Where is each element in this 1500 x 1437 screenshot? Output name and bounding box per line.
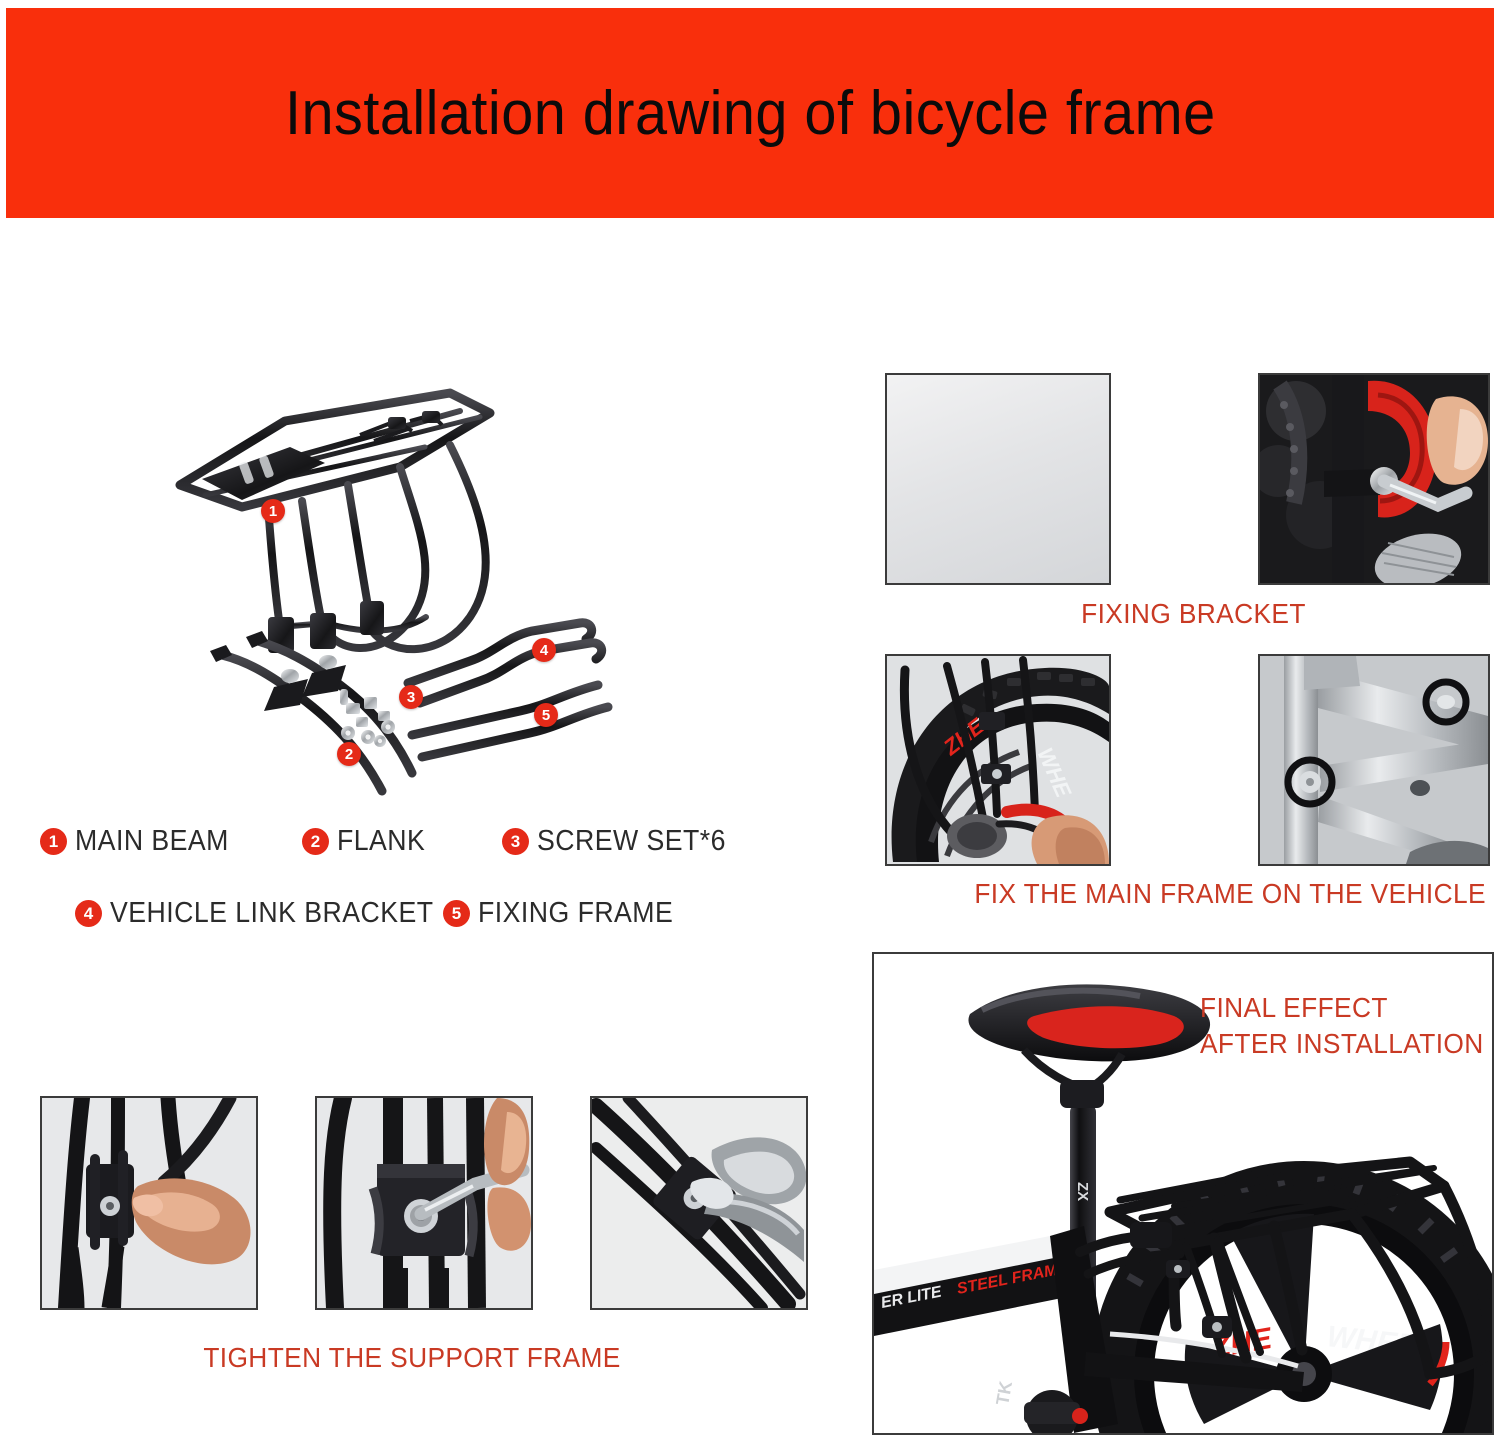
legend-item-fixing-frame: 5 FIXING FRAME	[443, 897, 690, 930]
svg-text:TK: TK	[992, 1380, 1016, 1407]
legend-number-5: 5	[443, 900, 470, 927]
legend-item-flank: 2 FLANK	[302, 825, 502, 858]
callout-5: 5	[534, 703, 558, 727]
exploded-view-illustration: 1 2 3 4 5	[150, 355, 630, 825]
legend-number-1: 1	[40, 828, 67, 855]
photo-tighten-support-2	[315, 1096, 533, 1310]
installed-rack-on-bike-art: ZHE WHEEL ZX ER LITE STEEL FRAME TK	[874, 954, 1492, 1433]
legend-item-vehicle-link-bracket: 4 VEHICLE LINK BRACKET	[75, 897, 443, 930]
photo-fix-main-frame-2	[1258, 654, 1490, 866]
callout-3: 3	[399, 685, 423, 709]
caption-fix-main-frame: FIX THE MAIN FRAME ON THE VEHICLE	[974, 878, 1486, 910]
photo-background	[887, 375, 1109, 583]
caption-tighten-support-frame: TIGHTEN THE SUPPORT FRAME	[203, 1342, 620, 1374]
callout-2: 2	[337, 742, 361, 766]
page-title: Installation drawing of bicycle frame	[285, 78, 1216, 149]
caption-final-effect-line2: AFTER INSTALLATION	[1200, 1028, 1484, 1060]
legend-row-1: 1 MAIN BEAM 2 FLANK 3 SCREW SET*6	[40, 818, 800, 864]
photo-fixing-bracket-2	[1258, 373, 1490, 585]
bolt-near-crank-art	[1260, 375, 1488, 583]
frame-mount-points-art	[1260, 656, 1488, 864]
parts-legend: 1 MAIN BEAM 2 FLANK 3 SCREW SET*6 4 VEHI…	[40, 818, 800, 936]
callout-1: 1	[261, 499, 285, 523]
legend-label-4: VEHICLE LINK BRACKET	[110, 897, 434, 930]
title-banner: Installation drawing of bicycle frame	[6, 8, 1494, 218]
callout-4: 4	[532, 638, 556, 662]
legend-number-2: 2	[302, 828, 329, 855]
legend-label-5: FIXING FRAME	[478, 897, 673, 930]
legend-row-2: 4 VEHICLE LINK BRACKET 5 FIXING FRAME	[75, 890, 800, 936]
legend-number-4: 4	[75, 900, 102, 927]
photo-final-effect: ZHE WHEEL ZX ER LITE STEEL FRAME TK	[872, 952, 1494, 1435]
caption-fixing-bracket: FIXING BRACKET	[1081, 598, 1306, 630]
fingers-aligning-bolt-art	[42, 1098, 256, 1308]
pliers-on-clamp-art	[592, 1098, 806, 1308]
legend-item-main-beam: 1 MAIN BEAM	[40, 825, 302, 858]
rack-parts-svg	[150, 355, 630, 825]
caption-final-effect-line1: FINAL EFFECT	[1200, 992, 1388, 1024]
legend-item-screw-set: 3 SCREW SET*6	[502, 825, 742, 858]
photo-tighten-support-1	[40, 1096, 258, 1310]
photo-fix-main-frame-1: ZHE WHE	[885, 654, 1111, 866]
legend-label-3: SCREW SET*6	[537, 825, 726, 858]
photo-fixing-bracket-1	[885, 373, 1111, 585]
svg-text:ZX: ZX	[1074, 1182, 1091, 1201]
allen-key-tightening-clamp-art	[317, 1098, 531, 1308]
legend-label-1: MAIN BEAM	[75, 825, 229, 858]
legend-number-3: 3	[502, 828, 529, 855]
photo-tighten-support-3	[590, 1096, 808, 1310]
legend-label-2: FLANK	[337, 825, 425, 858]
rear-wheel-rack-art: ZHE WHE	[887, 656, 1109, 864]
